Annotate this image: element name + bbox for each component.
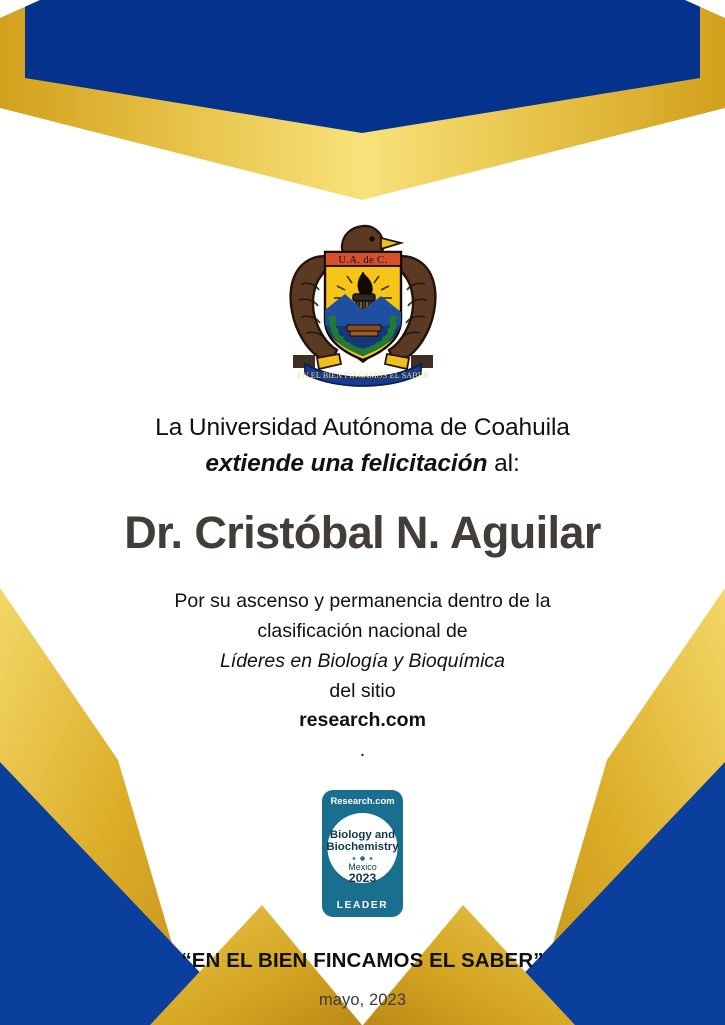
badge-header-text: Research.com <box>330 795 394 806</box>
crest-torch-bowl <box>353 294 375 301</box>
intro-emphasis: extiende una felicitación <box>205 450 487 477</box>
intro-tail: al: <box>487 450 519 477</box>
intro-block: La Universidad Autónoma de Coahuila exti… <box>155 412 570 480</box>
crest-books <box>347 325 381 331</box>
intro-line-1: La Universidad Autónoma de Coahuila <box>155 412 570 445</box>
badge-rank-text: LEADER <box>337 900 388 911</box>
badge-year-text: 2023 <box>349 871 377 885</box>
crest-talon-left-year <box>293 355 315 368</box>
citation-site-suffix: . <box>174 736 550 766</box>
certificate-content: U.A. de C. <box>0 0 725 1025</box>
uadec-crest-icon: U.A. de C. <box>277 222 449 390</box>
certificate-page: U.A. de C. <box>0 0 725 1025</box>
crest-eagle-eye <box>369 236 374 241</box>
badge-field-line-2: Biochemistry <box>326 841 399 853</box>
crest-banner-text: U.A. de C. <box>338 255 387 266</box>
honoree-name: Dr. Cristóbal N. Aguilar <box>124 507 601 559</box>
citation-line-4: del sitio research.com. <box>174 677 550 766</box>
citation-line-1: Por su ascenso y permanencia dentro de l… <box>174 587 550 617</box>
crest-ribbon-text: EN EL BIEN FINCAMOS EL SABER <box>297 371 428 380</box>
research-com-leader-badge: Research.com Biology and Biochemistry Me… <box>316 788 409 919</box>
citation-line-3-ranking: Líderes en Biología y Bioquímica <box>174 647 550 677</box>
citation-line-2: clasificación nacional de <box>174 617 550 647</box>
citation-site-name: research.com <box>174 706 550 736</box>
citation-site-prefix: del sitio <box>174 677 550 707</box>
crest-talon-right-year <box>411 355 433 368</box>
citation-body: Por su ascenso y permanencia dentro de l… <box>174 587 550 766</box>
university-motto: “EN EL BIEN FINCAMOS EL SABER” <box>181 949 543 973</box>
badge-field-line-1: Biology and <box>330 829 395 841</box>
intro-line-2: extiende una felicitación al: <box>155 448 570 481</box>
issue-date: mayo, 2023 <box>319 991 406 1010</box>
crest-eagle-beak <box>381 238 401 249</box>
